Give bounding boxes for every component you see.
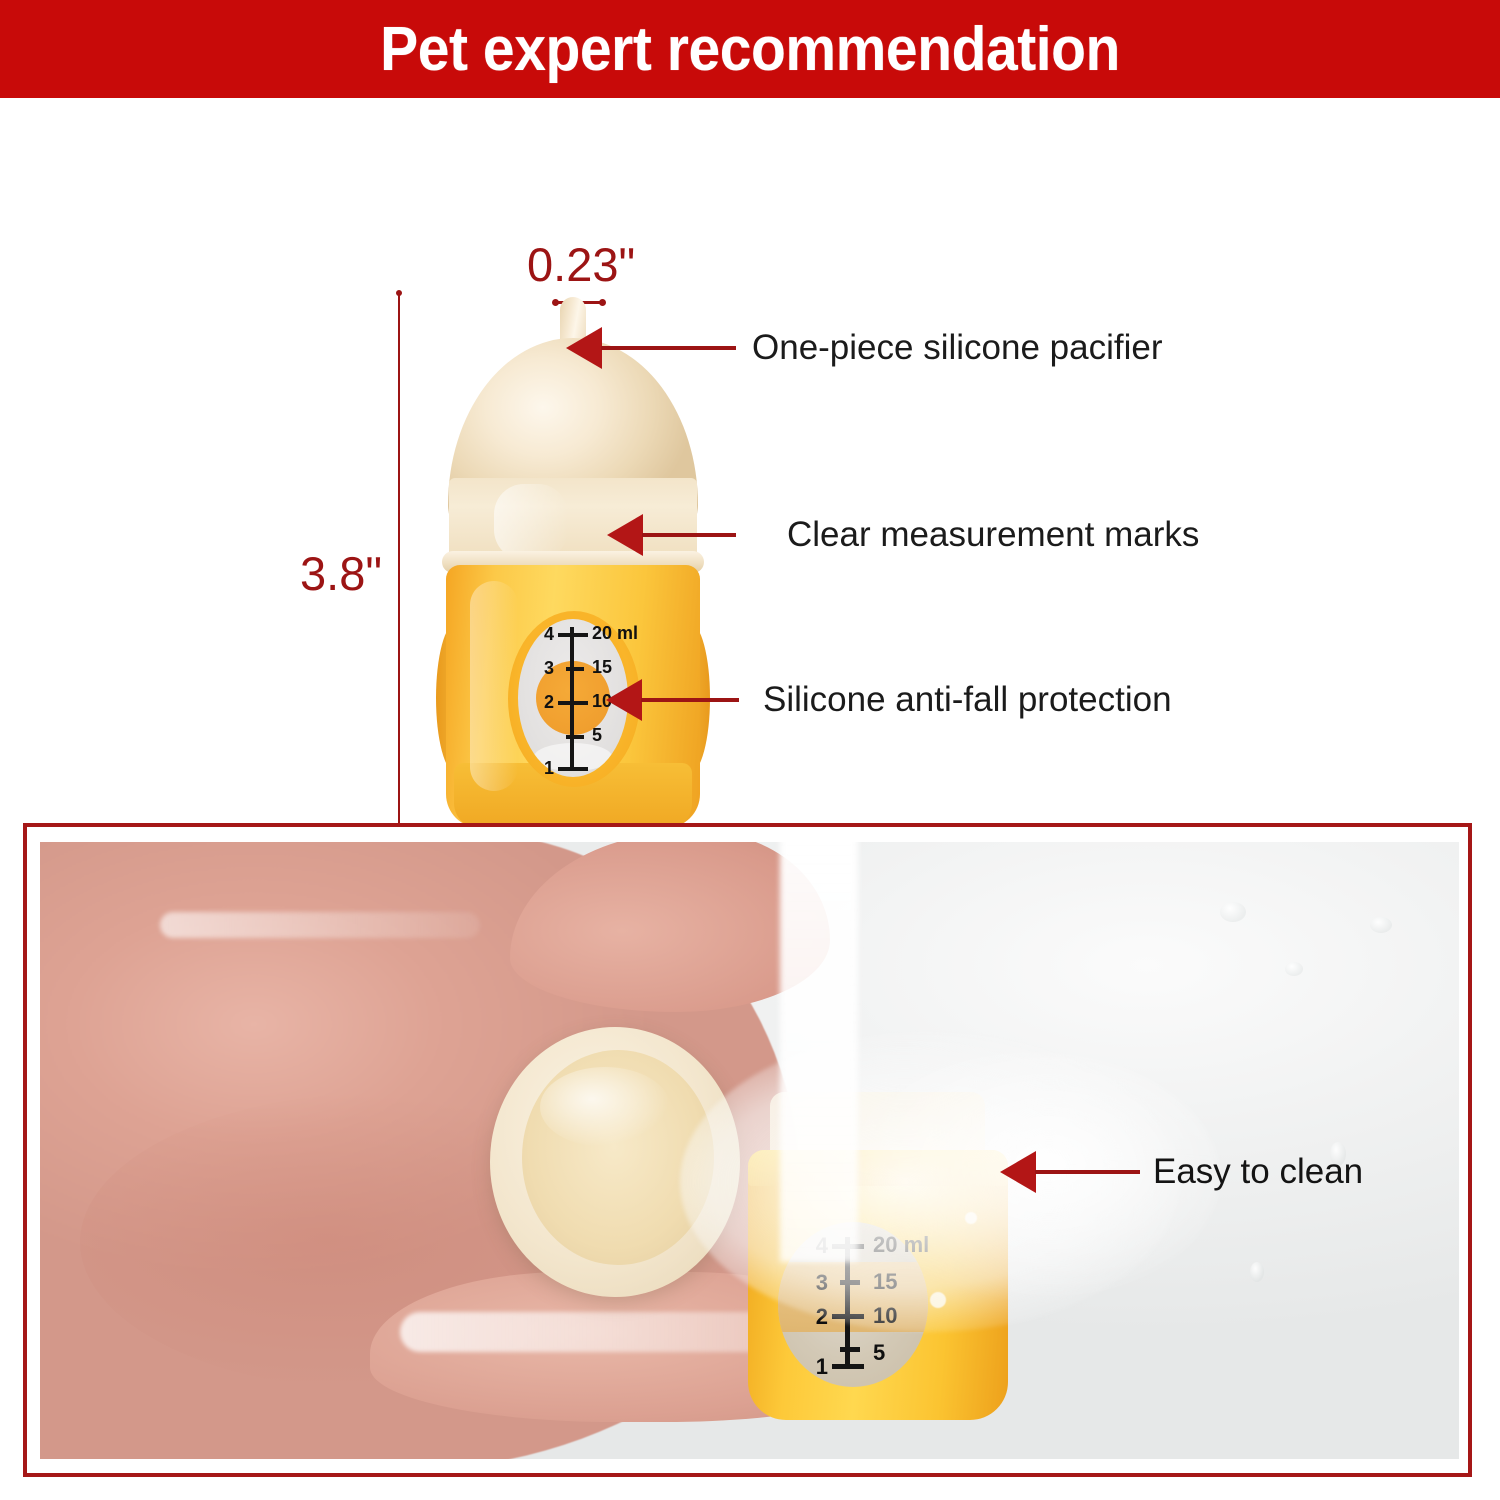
pacifier-cap-gloss [540, 1067, 670, 1147]
scale-label-right-5: 5 [592, 725, 602, 746]
scale-label-left-3: 3 [528, 658, 554, 679]
bottle-illustration: 4 3 2 1 20 ml 15 10 5 [424, 293, 722, 828]
dimension-label-tip-width: 0.23" [527, 237, 635, 292]
scale-label-left-2: 2 [528, 692, 554, 713]
water-stream [780, 842, 858, 1262]
background-droplet [1370, 917, 1392, 933]
callout-arrow-icon [606, 679, 642, 721]
callout-leader-line [642, 533, 736, 537]
product-photo: 4 3 2 1 20 ml 15 10 5 Easy to clean [40, 842, 1459, 1459]
callout-arrow-icon [1000, 1151, 1036, 1193]
background-droplet [1285, 962, 1303, 976]
scale-label-right-20ml: 20 ml [592, 623, 638, 644]
scale-label-right-15: 15 [592, 657, 612, 678]
callout-arrow-icon [566, 327, 602, 369]
scale-tick-10 [558, 701, 588, 705]
scale-tick-1 [558, 767, 588, 771]
measurement-scale-spine [570, 627, 574, 767]
scale-tick-1-photo [832, 1364, 864, 1369]
background-droplet [1220, 902, 1246, 922]
scale-label-left-4: 4 [528, 624, 554, 645]
callout-label-measurement: Clear measurement marks [787, 515, 1199, 555]
dimension-line-height [398, 293, 400, 829]
infographic-page: Pet expert recommendation 0.23" 3.8" 2" [0, 0, 1500, 1500]
dimension-label-height: 3.8" [300, 546, 382, 601]
scale-label-left-1: 1 [528, 758, 554, 779]
photo-frame: 4 3 2 1 20 ml 15 10 5 Easy to clean [23, 823, 1472, 1477]
callout-arrow-icon [607, 514, 643, 556]
callout-label-antifall: Silicone anti-fall protection [763, 680, 1172, 720]
palm-water-sheen [160, 912, 480, 938]
scale-tick-20 [558, 633, 588, 637]
scale-tick-5 [566, 735, 584, 739]
callout-label-easy-to-clean: Easy to clean [1153, 1152, 1363, 1192]
callout-label-pacifier: One-piece silicone pacifier [752, 328, 1162, 368]
scale-tick-5-photo [840, 1347, 860, 1352]
callout-leader-line [601, 346, 736, 350]
scale-label-left-1-photo: 1 [800, 1354, 828, 1380]
scale-tick-15 [566, 667, 584, 671]
header-banner: Pet expert recommendation [0, 0, 1500, 98]
page-title: Pet expert recommendation [380, 14, 1120, 85]
background-droplet [1250, 1262, 1264, 1282]
scale-label-right-5-photo: 5 [873, 1340, 885, 1366]
callout-leader-line [641, 698, 739, 702]
callout-leader-line [1035, 1170, 1140, 1174]
product-diagram: 0.23" 3.8" 2" [0, 98, 1500, 813]
